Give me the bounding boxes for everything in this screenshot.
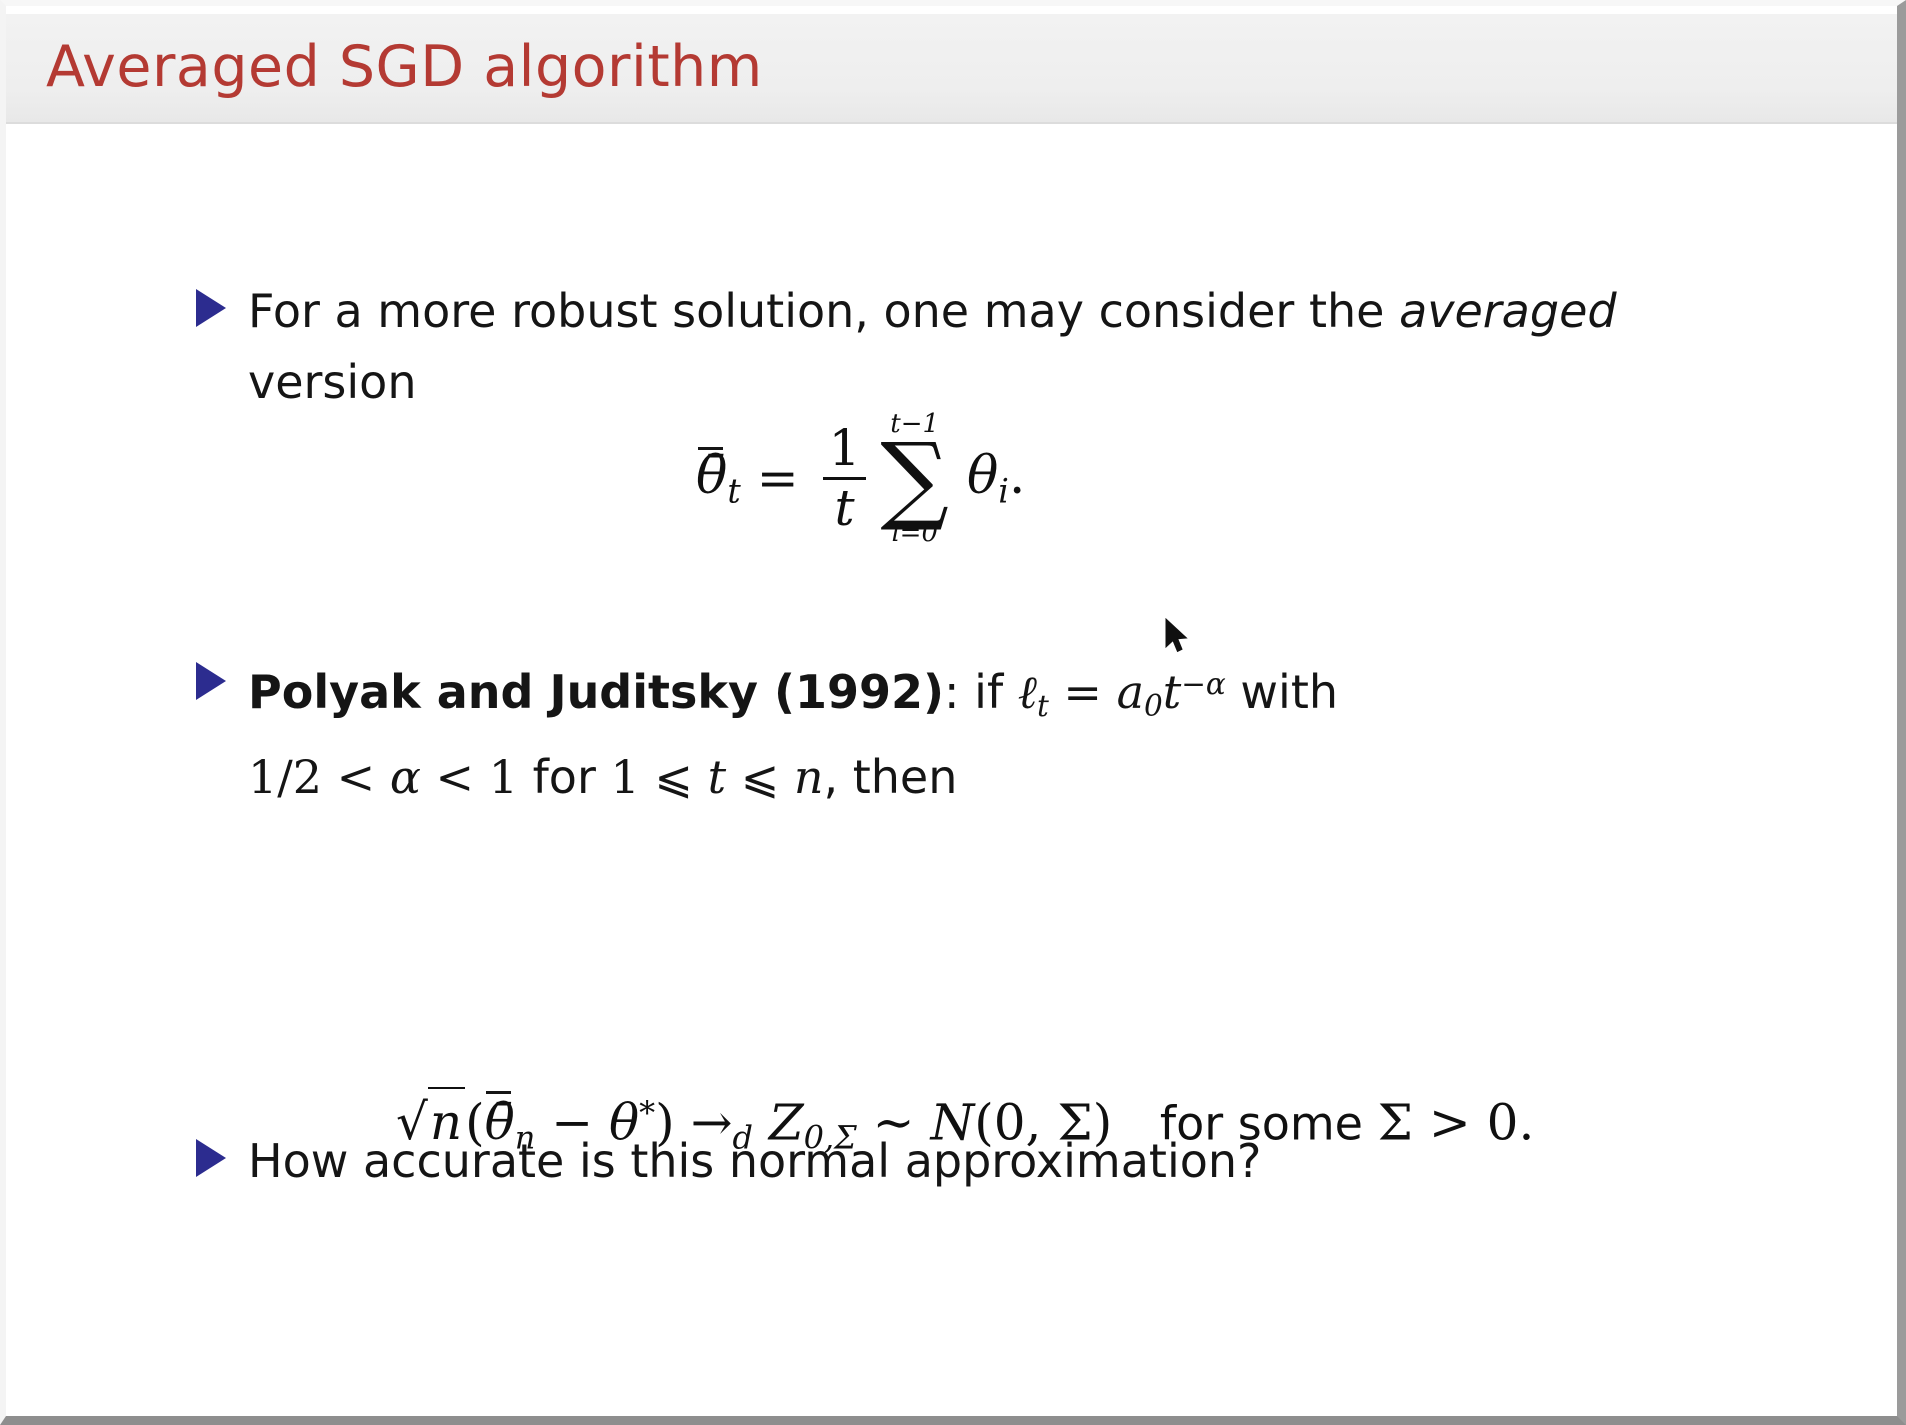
list-item: For a more robust solution, one may cons… bbox=[196, 276, 1696, 418]
eq1-summand: θi. bbox=[967, 446, 1025, 510]
slide-body: For a more robust solution, one may cons… bbox=[6, 126, 1897, 1416]
eq-averaged-estimator: θ̄t = 1 t t−1 ∑ i=0 θi. bbox=[696, 411, 1025, 546]
eq1-sum-lower: i=0 bbox=[891, 520, 938, 546]
slide-canvas: Averaged SGD algorithm For a more robust… bbox=[6, 6, 1897, 1416]
bullet-2-after-math-1: with bbox=[1226, 665, 1338, 719]
bullet-averaged-version-text: For a more robust solution, one may cons… bbox=[248, 276, 1617, 418]
eq1-denominator: t bbox=[828, 483, 860, 534]
triangle-right-icon bbox=[196, 1139, 226, 1177]
bullet-1-lead: For a more robust solution, one may cons… bbox=[248, 284, 1399, 338]
bullet-1-line2: version bbox=[248, 355, 416, 409]
bullet-2-then: , then bbox=[824, 750, 958, 804]
bullet-2-citation: Polyak and Juditsky (1992) bbox=[248, 665, 944, 719]
bullet-2-inline-math-1: ℓt = a0t−α bbox=[1018, 665, 1226, 719]
triangle-right-icon bbox=[196, 289, 226, 327]
list-item: How accurate is this normal approximatio… bbox=[196, 1126, 1696, 1197]
eq1-numerator: 1 bbox=[823, 423, 867, 474]
bullet-2-after-citation: : if bbox=[944, 665, 1018, 719]
bullet-2-for: for bbox=[518, 750, 611, 804]
sigma-summation-icon: ∑ bbox=[880, 437, 949, 520]
list-item: Polyak and Juditsky (1992): if ℓt = a0t−… bbox=[196, 649, 1716, 813]
bullet-2-inline-math-2: 1/2 < α < 1 bbox=[248, 750, 518, 804]
triangle-right-icon bbox=[196, 662, 226, 700]
bullet-polyak-juditsky-text: Polyak and Juditsky (1992): if ℓt = a0t−… bbox=[248, 649, 1338, 813]
bullet-2-inline-math-3: 1 ⩽ t ⩽ n bbox=[610, 750, 823, 804]
eq1-lhs: θ̄t bbox=[696, 446, 741, 510]
page-title: Averaged SGD algorithm bbox=[46, 30, 763, 104]
slide-frame: Averaged SGD algorithm For a more robust… bbox=[0, 0, 1906, 1425]
slide-title-bar: Averaged SGD algorithm bbox=[6, 14, 1897, 124]
bullet-normal-approximation-text: How accurate is this normal approximatio… bbox=[248, 1126, 1261, 1197]
eq1-fraction: 1 t bbox=[823, 423, 867, 534]
bullet-1-emphasis: averaged bbox=[1399, 284, 1617, 338]
eq1-summation: t−1 ∑ i=0 bbox=[880, 411, 949, 546]
eq1-relation: = bbox=[757, 449, 799, 507]
